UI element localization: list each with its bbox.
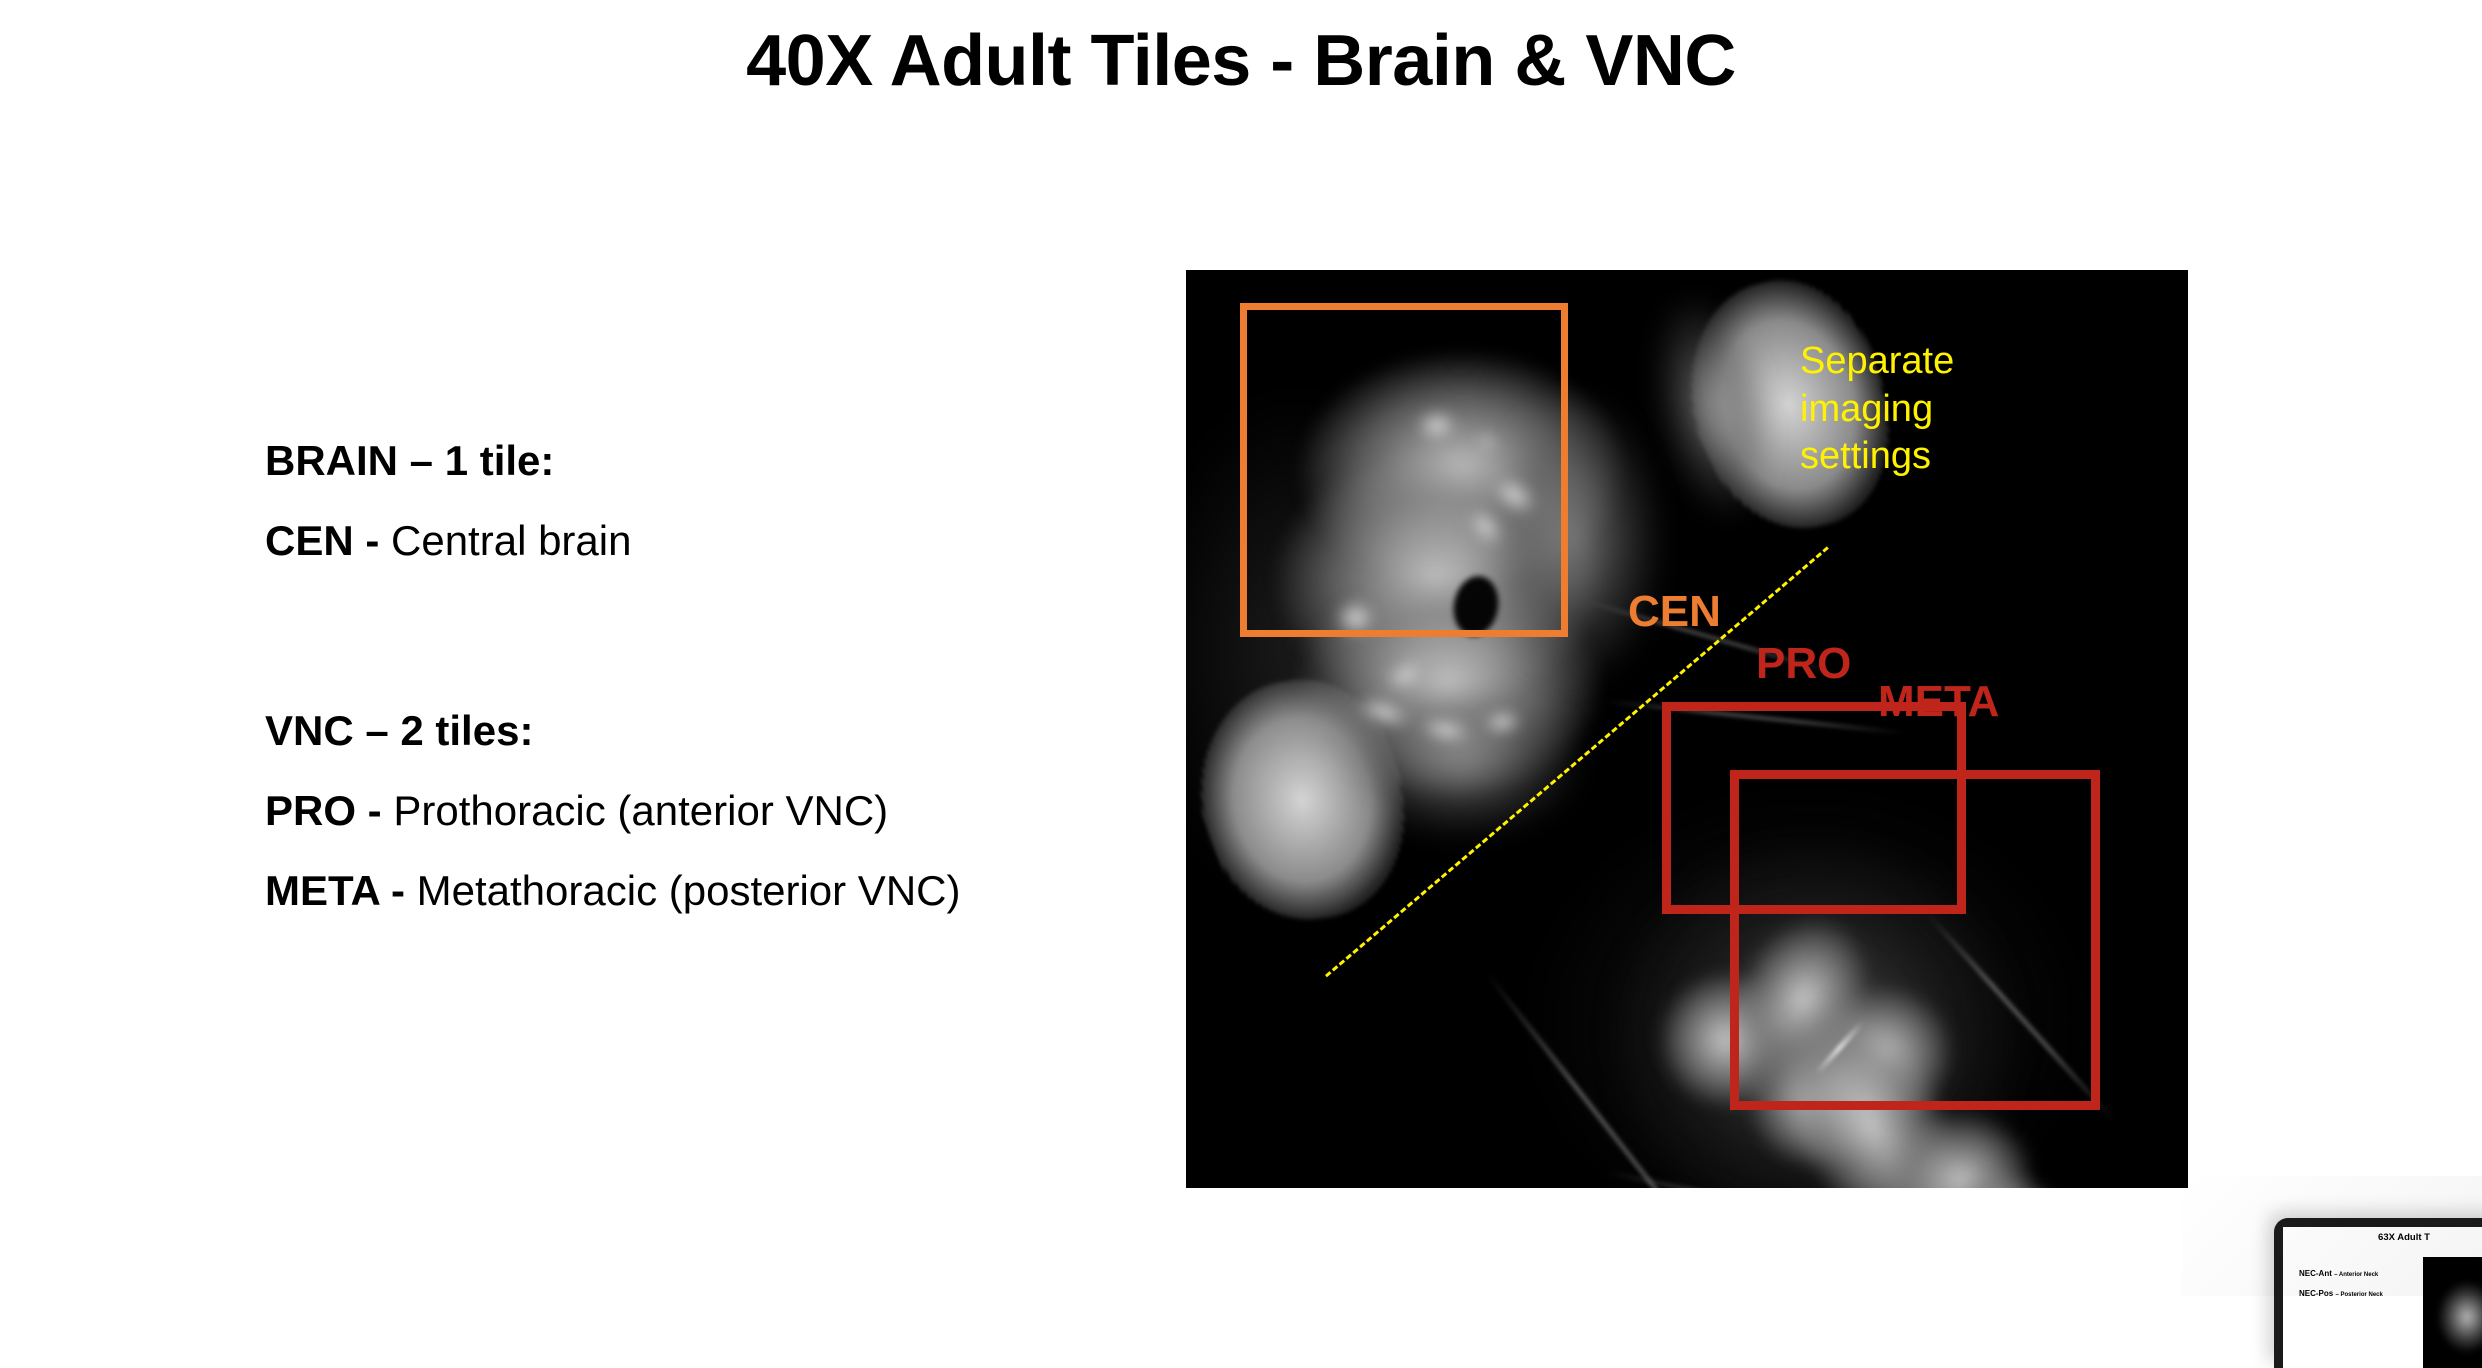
separate-settings-note: Separate imaging settings [1800,338,1954,481]
tile-box-cen[interactable] [1240,303,1568,637]
tile-label-meta: META [1878,680,1999,724]
next-slide-tissue-blob [2437,1281,2482,1353]
next-slide-microscopy-image [2423,1257,2482,1368]
term-definition-cen: Central brain [379,517,631,564]
term-row-cen: CEN - Central brain [265,520,1165,562]
microscopy-figure: CEN PRO META Separate imaging settings [1186,270,2188,1188]
tile-label-pro: PRO [1756,642,1851,686]
vnc-heading: VNC – 2 tiles: [265,710,1165,752]
tile-box-meta[interactable] [1730,770,2100,1110]
page-title: 40X Adult Tiles - Brain & VNC [0,22,2482,101]
term-abbrev-cen: CEN - [265,517,379,564]
tile-label-cen: CEN [1628,590,1721,634]
next-slide-term-definition: – Anterior Neck [2334,1272,2378,1278]
next-slide-term-nec-ant: NEC-Ant – Anterior Neck [2299,1269,2378,1278]
next-slide-term-abbrev: NEC-Pos [2299,1289,2333,1298]
next-slide-term-nec-pos: NEC-Pos – Posterior Neck [2299,1289,2383,1298]
next-slide-page: 63X Adult T NEC-Ant – Anterior Neck NEC-… [2283,1227,2482,1368]
term-abbrev-meta: META - [265,867,405,914]
brain-heading: BRAIN – 1 tile: [265,440,1165,482]
term-abbrev-pro: PRO - [265,787,382,834]
next-slide-term-abbrev: NEC-Ant [2299,1269,2332,1278]
next-slide-term-definition: – Posterior Neck [2335,1292,2382,1298]
next-slide-thumbnail[interactable]: 63X Adult T NEC-Ant – Anterior Neck NEC-… [2274,1218,2482,1368]
note-line-3: settings [1800,433,1954,481]
next-slide-title: 63X Adult T [2283,1232,2482,1243]
description-column: BRAIN – 1 tile: CEN - Central brain VNC … [265,440,1165,950]
term-row-meta: META - Metathoracic (posterior VNC) [265,870,1165,912]
term-definition-meta: Metathoracic (posterior VNC) [405,867,961,914]
note-line-1: Separate [1800,338,1954,386]
section-spacer [265,600,1165,710]
note-line-2: imaging [1800,386,1954,434]
term-row-pro: PRO - Prothoracic (anterior VNC) [265,790,1165,832]
term-definition-pro: Prothoracic (anterior VNC) [382,787,888,834]
